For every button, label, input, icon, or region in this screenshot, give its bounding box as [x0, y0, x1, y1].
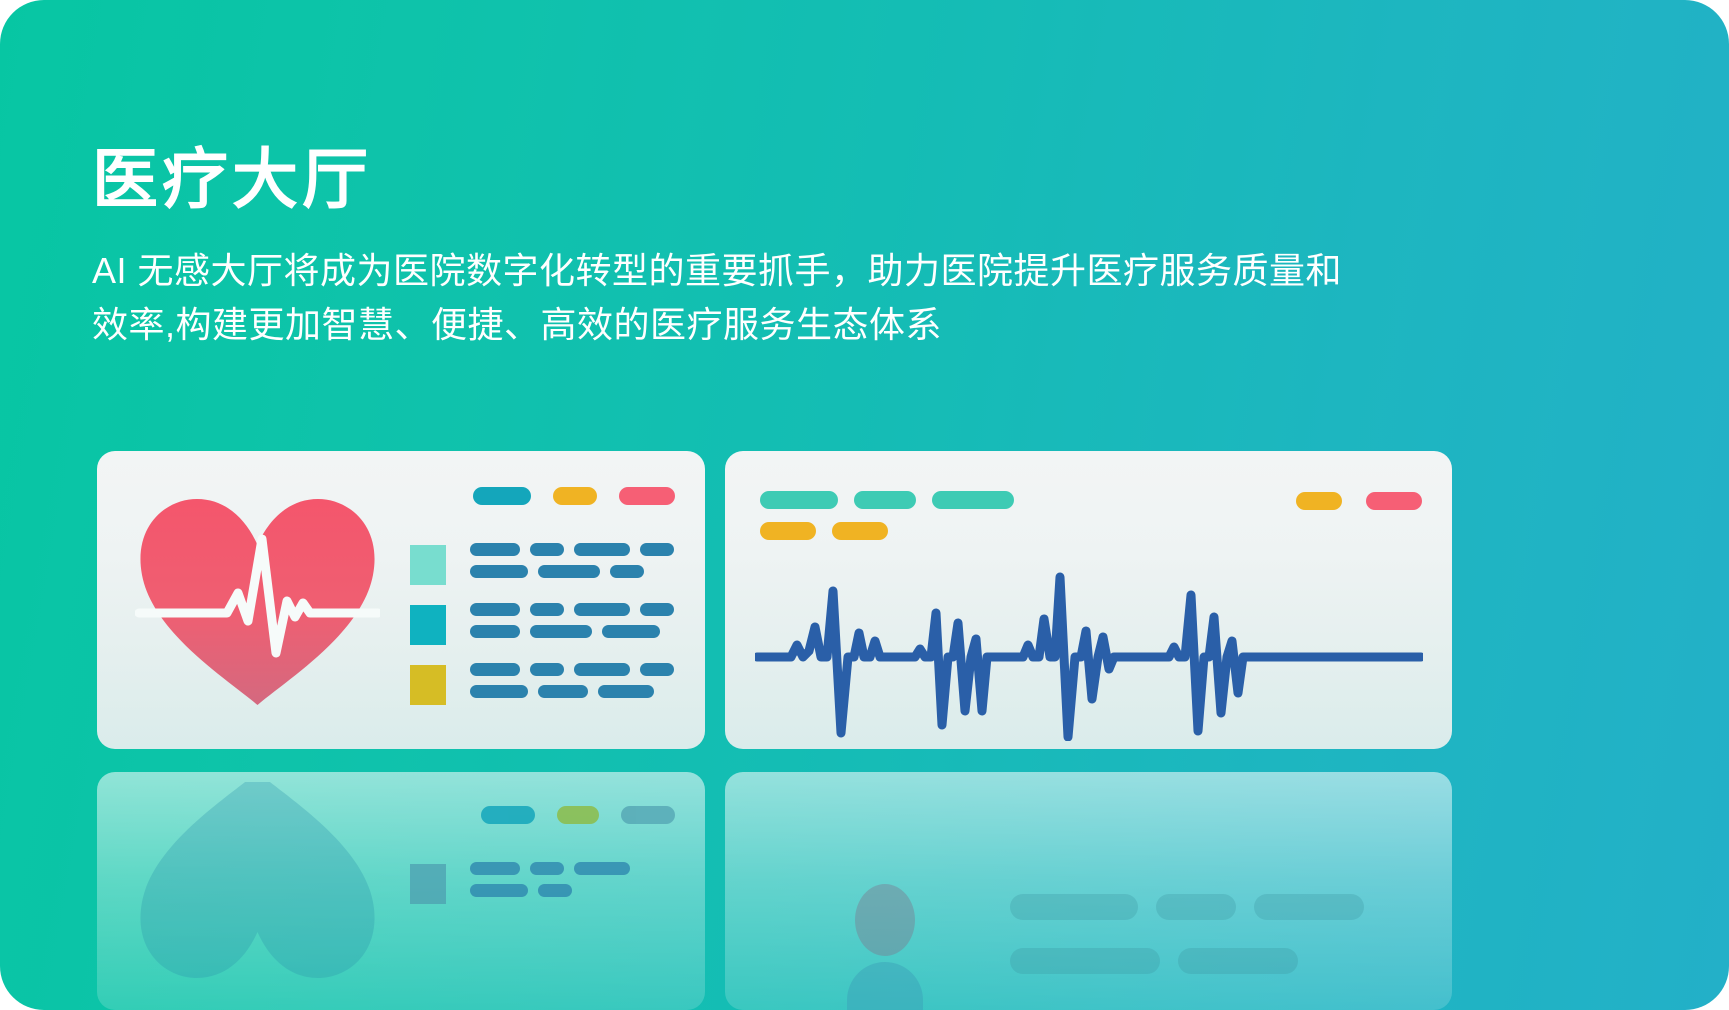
pill-row	[760, 522, 1014, 540]
list-item	[410, 862, 680, 906]
user-avatar-icon	[847, 884, 923, 992]
list-item	[410, 663, 680, 707]
cards-row	[97, 451, 1452, 751]
ecg-waveform-icon	[755, 561, 1423, 741]
text-bar	[640, 663, 674, 676]
text-line	[470, 862, 680, 875]
reflection-left-top-pills	[481, 806, 675, 824]
text-bar	[1254, 894, 1364, 920]
text-bar	[470, 663, 520, 676]
pill	[621, 806, 675, 824]
text-line	[470, 565, 680, 578]
pill	[760, 491, 838, 509]
pill	[760, 522, 816, 540]
list-item	[410, 603, 680, 647]
text-bar	[470, 543, 520, 556]
text-bar	[574, 603, 630, 616]
pill	[481, 806, 535, 824]
page-subtitle-line-1: AI 无感大厅将成为医院数字化转型的重要抓手，助力医院提升医疗服务质量和	[92, 244, 1472, 298]
text-bar	[470, 565, 528, 578]
color-swatch	[410, 545, 446, 585]
mirrored-cards-reflection	[97, 772, 1452, 1010]
text-bar	[574, 543, 630, 556]
reflection-right-bars	[1010, 894, 1410, 1002]
pill	[557, 806, 599, 824]
text-bar	[598, 685, 654, 698]
pill	[473, 487, 531, 505]
text-bar	[1010, 894, 1138, 920]
list-item-lines	[470, 603, 680, 647]
right-card-right-pills	[1296, 492, 1422, 510]
ecg-waveform-card[interactable]	[725, 451, 1452, 749]
reflection-heart-icon	[135, 782, 380, 1010]
text-bar	[1178, 948, 1298, 974]
text-line	[470, 603, 680, 616]
text-bar	[530, 603, 564, 616]
pill	[619, 487, 675, 505]
text-bar	[470, 884, 528, 897]
pill	[1296, 492, 1342, 510]
text-bar	[470, 625, 520, 638]
text-line	[470, 663, 680, 676]
text-bar	[530, 862, 564, 875]
list-item-lines	[470, 543, 680, 587]
text-bar	[538, 565, 600, 578]
text-bar	[530, 625, 592, 638]
pill	[1366, 492, 1422, 510]
pill	[854, 491, 916, 509]
color-swatch	[410, 605, 446, 645]
headline-block: 医疗大厅 AI 无感大厅将成为医院数字化转型的重要抓手，助力医院提升医疗服务质量…	[92, 140, 1492, 352]
text-line	[470, 685, 680, 698]
list-item-lines	[470, 663, 680, 707]
text-bar	[602, 625, 660, 638]
reflection-right-card	[725, 772, 1452, 1010]
text-bar	[538, 884, 572, 897]
text-bar	[470, 862, 520, 875]
text-bar	[610, 565, 644, 578]
page-subtitle: AI 无感大厅将成为医院数字化转型的重要抓手，助力医院提升医疗服务质量和 效率,…	[92, 244, 1472, 352]
color-swatch	[410, 665, 446, 705]
text-bar	[1010, 948, 1160, 974]
left-card-top-pills	[473, 487, 675, 505]
pill	[932, 491, 1014, 509]
color-swatch	[410, 864, 446, 904]
text-line	[470, 543, 680, 556]
reflection-left-card	[97, 772, 705, 1010]
left-card-rows	[410, 543, 680, 723]
page-subtitle-line-2: 效率,构建更加智慧、便捷、高效的医疗服务生态体系	[92, 298, 1472, 352]
text-bar	[530, 543, 564, 556]
text-bar	[574, 663, 630, 676]
heart-with-ecg-icon	[135, 493, 380, 708]
hero-banner: 医疗大厅 AI 无感大厅将成为医院数字化转型的重要抓手，助力医院提升医疗服务质量…	[0, 0, 1729, 1010]
reflection-left-rows	[410, 862, 680, 922]
avatar-body	[847, 962, 923, 1010]
list-item-lines	[470, 862, 680, 906]
text-bar	[470, 685, 528, 698]
text-bar	[470, 603, 520, 616]
pill-row	[760, 491, 1014, 509]
text-line	[1010, 894, 1410, 920]
text-bar	[530, 663, 564, 676]
avatar-head	[855, 884, 915, 956]
list-item	[410, 543, 680, 587]
text-line	[470, 625, 680, 638]
right-card-top-pills	[760, 491, 1014, 553]
heart-monitor-card[interactable]	[97, 451, 705, 749]
text-bar	[1156, 894, 1236, 920]
text-bar	[640, 603, 674, 616]
text-line	[1010, 948, 1410, 974]
text-bar	[538, 685, 588, 698]
pill	[832, 522, 888, 540]
text-line	[470, 884, 680, 897]
text-bar	[640, 543, 674, 556]
text-bar	[574, 862, 630, 875]
page-title: 医疗大厅	[92, 140, 1492, 218]
pill	[553, 487, 597, 505]
